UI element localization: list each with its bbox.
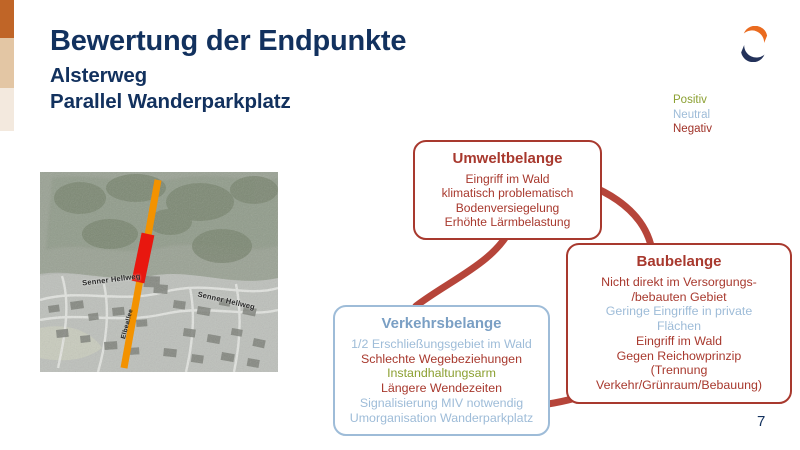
list-item: Eingriff im Wald [574,334,784,349]
accent-bar-orange [0,0,14,38]
node-box-baubelange: Baubelange Nicht direkt im Versorgungs- … [566,243,792,404]
list-item: klimatisch problematisch [421,186,594,200]
node-title-umweltbelange: Umweltbelange [421,150,594,169]
list-item: Signalisierung MIV notwendig [341,396,542,411]
list-item: Erhöhte Lärmbelastung [421,215,594,229]
list-item: Längere Wendezeiten [341,381,542,396]
page-title: Bewertung der Endpunkte [50,26,406,58]
accent-bar-tan [0,38,14,88]
list-item: /bebauten Gebiet [574,290,784,305]
list-item: (Trennung [574,363,784,378]
list-item: Geringe Eingriffe in private [574,304,784,319]
node-box-umweltbelange: Umweltbelange Eingriff im Wald klimatisc… [413,140,602,240]
map-canvas [40,172,278,372]
node-items-verkehrsbelange: 1/2 Erschließungsgebiet im Wald Schlecht… [341,337,542,426]
accent-bar-cream [0,88,14,131]
list-item: Instandhaltungsarm [341,366,542,381]
title-block: Bewertung der Endpunkte Alsterweg Parall… [50,26,406,115]
node-title-verkehrsbelange: Verkehrsbelange [341,315,542,334]
list-item: Schlechte Wegebeziehungen [341,352,542,367]
node-box-verkehrsbelange: Verkehrsbelange 1/2 Erschließungsgebiet … [333,305,550,436]
legend-item-positiv: Positiv [673,93,712,108]
page-number: 7 [757,413,765,430]
accent-color-bars [0,0,14,131]
list-item: Nicht direkt im Versorgungs- [574,275,784,290]
node-title-baubelange: Baubelange [574,253,784,272]
list-item: Verkehr/Grünraum/Bebauung) [574,378,784,393]
list-item: Gegen Reichowprinzip [574,349,784,364]
node-items-baubelange: Nicht direkt im Versorgungs- /bebauten G… [574,275,784,393]
legend-item-neutral: Neutral [673,108,712,123]
subtitle-line-2: Parallel Wanderparkplatz [50,89,406,115]
aerial-map-figure: Senner Hellweg Senner Hellweg Elbeallee [40,172,278,372]
s-swoosh-logo-icon [737,26,771,62]
list-item: 1/2 Erschließungsgebiet im Wald [341,337,542,352]
list-item: Umorganisation Wanderparkplatz [341,411,542,426]
node-items-umweltbelange: Eingriff im Wald klimatisch problematisc… [421,172,594,230]
subtitle-line-1: Alsterweg [50,63,406,89]
list-item: Eingriff im Wald [421,172,594,186]
list-item: Bodenversiegelung [421,201,594,215]
list-item: Flächen [574,319,784,334]
